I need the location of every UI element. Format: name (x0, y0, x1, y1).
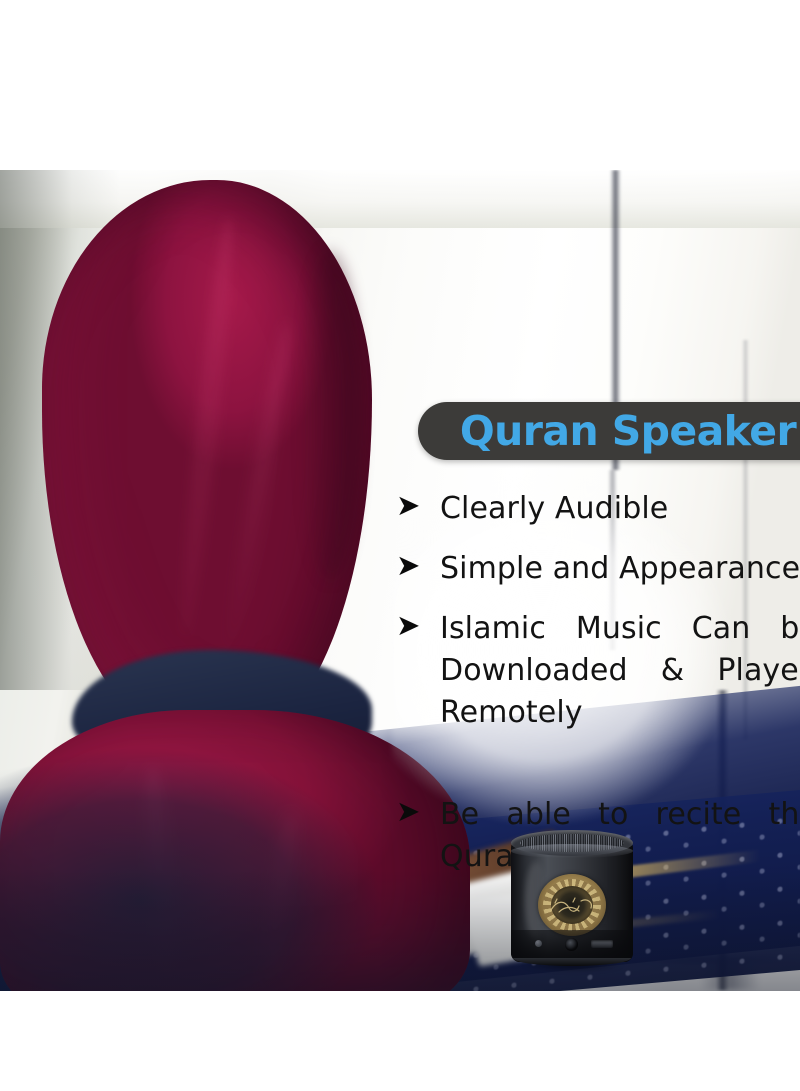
arrow-bullet-icon: ➤ (396, 492, 426, 520)
product-banner: Quran Speaker ➤ Clearly Audible ➤ Simple… (0, 0, 800, 1091)
arrow-bullet-icon: ➤ (396, 798, 426, 826)
quran-speaker-product (511, 830, 633, 970)
title-pill: Quran Speaker (418, 402, 800, 460)
feature-text: Islamic Music Can be Downloaded & Played… (440, 608, 800, 776)
feature-item: ➤ Islamic Music Can be Downloaded & Play… (396, 608, 800, 776)
arabic-calligraphy-icon (545, 892, 599, 918)
speaker-rim (511, 844, 633, 858)
arrow-bullet-icon: ➤ (396, 552, 426, 580)
sd-card-slot (591, 940, 613, 948)
feature-text: Clearly Audible (440, 488, 800, 530)
feature-item: ➤ Simple and Appearance (396, 548, 800, 590)
feature-item: ➤ Clearly Audible (396, 488, 800, 530)
page-title: Quran Speaker (460, 407, 796, 455)
product-photo: Quran Speaker ➤ Clearly Audible ➤ Simple… (0, 170, 800, 991)
feature-text: Simple and Appearance (440, 548, 800, 590)
power-button[interactable] (535, 940, 542, 947)
aux-jack-port (565, 938, 578, 951)
hijab-edge-shadow (300, 250, 360, 580)
arrow-bullet-icon: ➤ (396, 612, 426, 640)
